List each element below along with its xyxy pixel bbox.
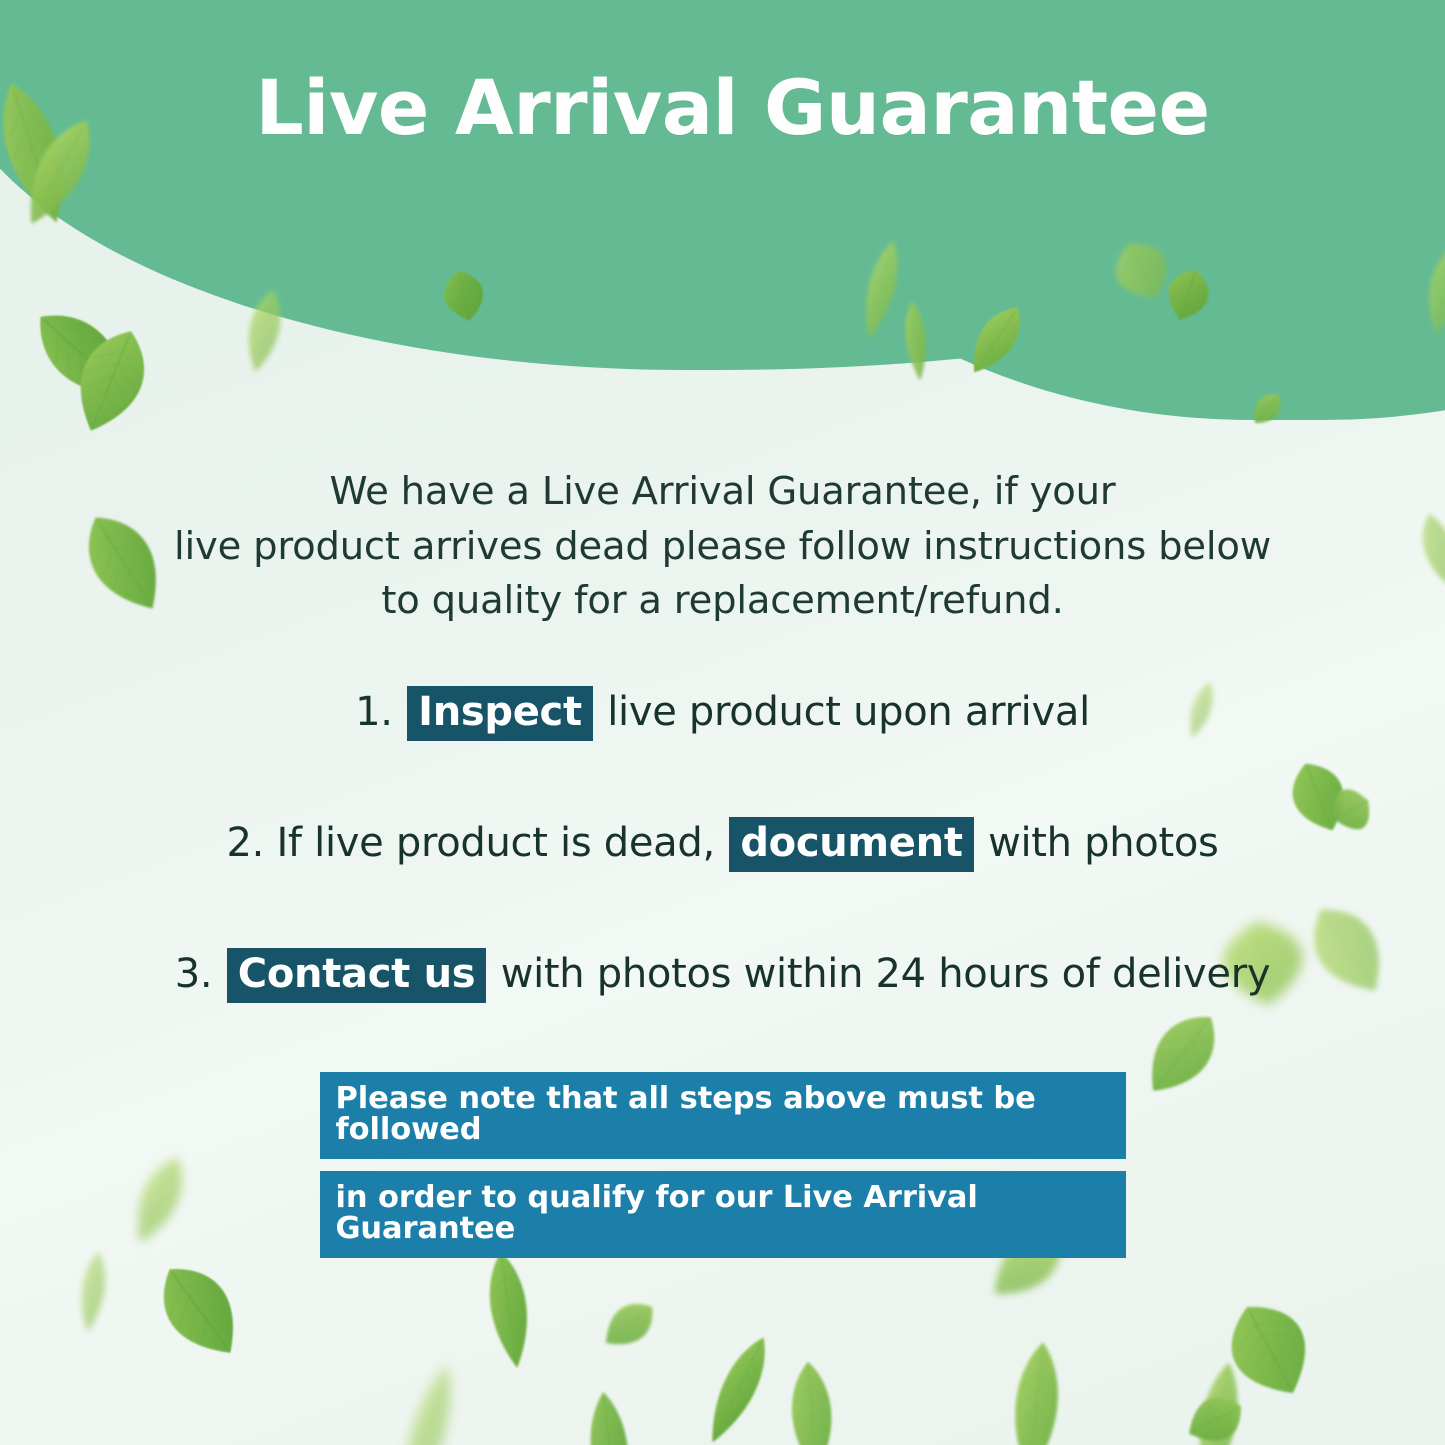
live-arrival-guarantee-poster: Live Arrival Guarantee We have a Live Ar…: [0, 0, 1445, 1445]
leaf-icon: [588, 1284, 671, 1367]
leaf-icon: [776, 1358, 848, 1445]
step-1-highlight: Inspect: [407, 686, 593, 741]
leaf-icon: [472, 1247, 546, 1374]
leaf-icon: [1179, 1356, 1257, 1445]
leaf-icon: [69, 1248, 116, 1336]
intro-line-1: We have a Live Arrival Guarantee, if you…: [130, 465, 1315, 520]
leaf-icon: [995, 1337, 1077, 1445]
intro-line-3: to quality for a replacement/refund.: [130, 574, 1315, 629]
step-1-after: live product upon arrival: [607, 689, 1090, 735]
intro-line-2: live product arrives dead please follow …: [130, 520, 1315, 575]
step-1-number: 1.: [355, 689, 393, 735]
step-2-number: 2.: [226, 820, 264, 866]
footer-note: Please note that all steps above must be…: [0, 1072, 1445, 1258]
step-3-number: 3.: [175, 951, 213, 997]
step-2-highlight: document: [729, 817, 973, 872]
step-2-after: with photos: [988, 820, 1219, 866]
leaf-icon: [688, 1325, 787, 1445]
steps-list: 1. Inspect live product upon arrival 2. …: [0, 686, 1445, 1003]
step-item-1: 1. Inspect live product upon arrival: [0, 686, 1445, 741]
step-3-highlight: Contact us: [227, 948, 486, 1003]
footer-note-line-1: Please note that all steps above must be…: [320, 1072, 1126, 1159]
footer-note-line-2: in order to qualify for our Live Arrival…: [320, 1171, 1126, 1258]
step-3-after: with photos within 24 hours of delivery: [501, 951, 1271, 997]
leaf-icon: [128, 1239, 271, 1384]
leaf-icon: [379, 1356, 473, 1445]
leaf-icon: [573, 1387, 646, 1445]
leaf-icon: [1172, 1375, 1258, 1445]
step-item-3: 3. Contact us with photos within 24 hour…: [0, 948, 1445, 1003]
step-2-before: If live product is dead,: [276, 820, 714, 866]
leaf-icon: [45, 312, 177, 451]
step-item-2: 2. If live product is dead, document wit…: [0, 817, 1445, 872]
leaf-icon: [9, 282, 160, 431]
page-title: Live Arrival Guarantee: [0, 68, 1445, 148]
leaf-icon: [1194, 1278, 1347, 1423]
intro-paragraph: We have a Live Arrival Guarantee, if you…: [0, 465, 1445, 629]
